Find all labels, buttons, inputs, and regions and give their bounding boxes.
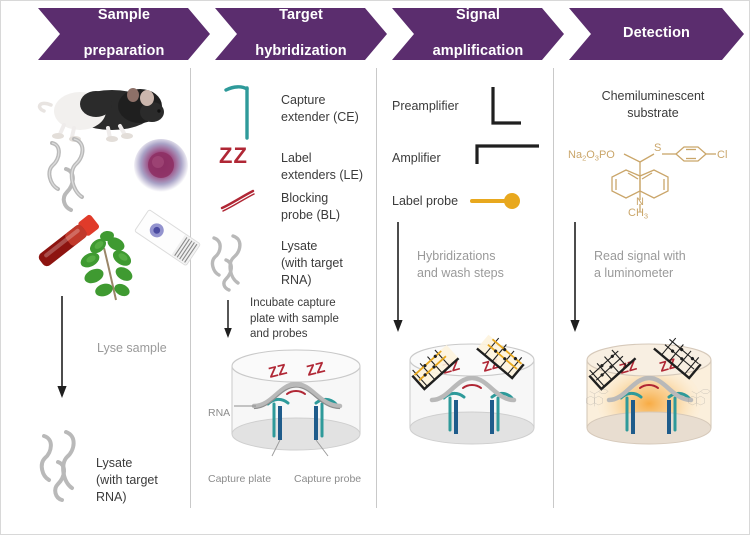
hybridization-label: Hybridizations and wash steps (417, 248, 547, 282)
amplification-well-3: ZZ ZZ (400, 340, 552, 462)
column-divider-1 (190, 68, 191, 508)
blocking-probe-label: Blocking probe (BL) (281, 190, 387, 224)
capture-extender-label: Capture extender (CE) (281, 92, 387, 126)
blocking-probe-icon (219, 188, 261, 212)
chemiluminescent-substrate-title: Chemiluminescent substrate (562, 88, 744, 122)
amplifier-label: Amplifier (392, 150, 441, 167)
header-step-line2: preparation (78, 43, 171, 61)
header-step-detection[interactable]: Detection (569, 8, 744, 60)
svg-text:CH3: CH3 (628, 207, 648, 221)
rna-strands-photo (44, 135, 114, 215)
header-step-signal-amplification[interactable]: Signal amplification (392, 8, 564, 60)
column-divider-3 (553, 68, 554, 508)
legend-line2: (with target (281, 256, 343, 270)
header-step-line1: Sample (78, 7, 171, 25)
label-extenders-label: Label extenders (LE) (281, 150, 387, 184)
header-step-line2: hybridization (249, 43, 353, 61)
legend-line2: extender (CE) (281, 110, 359, 124)
header-step-line1: Detection (617, 25, 696, 43)
label-probe-icon (470, 190, 526, 212)
label-extenders-icon: ZZ (219, 143, 248, 169)
substrate-title-line2: substrate (627, 106, 678, 120)
detection-well-4: ZZ ZZ (577, 340, 729, 462)
capture-extender-icon (224, 84, 258, 142)
rna-well-label: RNA (208, 407, 230, 421)
tissue-slide-photo (124, 216, 196, 278)
incubate-arrow (221, 300, 235, 340)
amplifier-icon (473, 138, 545, 170)
read-signal-label: Read signal with a luminometer (594, 248, 734, 282)
chlorine-atom-label: Cl (717, 149, 727, 161)
chemiluminescent-substrate-structure: Na2O3PO S Cl N CH3 (562, 130, 746, 216)
incubate-line2: plate with sample (250, 313, 339, 325)
incubate-line3: and probes (250, 328, 308, 340)
read-signal-line1: Read signal with (594, 249, 686, 263)
legend-line1: Blocking (281, 191, 328, 205)
legend-line2: probe (BL) (281, 208, 340, 222)
header-step-target-hybridization[interactable]: Target hybridization (215, 8, 387, 60)
lyse-sample-arrow (55, 296, 69, 400)
capture-probe-label: Capture probe (294, 473, 361, 487)
workflow-header: Sample preparation Target hybridization … (0, 8, 750, 60)
legend-line1: Label (281, 151, 312, 165)
read-signal-line2: a luminometer (594, 266, 673, 280)
header-step-line1: Target (249, 7, 353, 25)
lysate-result-line2: (with target RNA) (96, 473, 158, 504)
legend-line1: Capture (281, 93, 325, 107)
sulfur-atom-label: S (654, 142, 661, 154)
lysate-result-label: Lysate (with target RNA) (96, 455, 188, 506)
preamplifier-label: Preamplifier (392, 98, 459, 115)
lyse-sample-label: Lyse sample (97, 340, 167, 357)
capture-plate-label: Capture plate (208, 473, 271, 487)
svg-text:Na2O3PO: Na2O3PO (568, 149, 615, 163)
legend-line1: Lysate (281, 239, 317, 253)
lysate-strands-icon (36, 430, 100, 504)
capture-plate-well-2: ZZ ZZ (224, 348, 378, 468)
lysate-legend-label: Lysate (with target RNA) (281, 238, 381, 289)
incubate-line1: Incubate capture (250, 297, 336, 309)
incubate-label: Incubate capture plate with sample and p… (250, 296, 370, 343)
label-probe-label: Label probe (392, 193, 458, 210)
header-step-line2: amplification (427, 43, 530, 61)
lysate-legend-icon (208, 234, 266, 292)
hybridization-arrow (391, 222, 405, 334)
header-step-line1: Signal (427, 7, 530, 25)
cell-sample-photo (133, 138, 189, 194)
preamplifier-icon (487, 85, 533, 133)
substrate-title-line1: Chemiluminescent (602, 89, 705, 103)
legend-line2: extenders (LE) (281, 168, 363, 182)
lysate-result-line1: Lysate (96, 456, 132, 470)
hybridization-line2: and wash steps (417, 266, 504, 280)
read-signal-arrow (568, 222, 582, 334)
legend-line3: RNA) (281, 273, 312, 287)
header-step-sample-preparation[interactable]: Sample preparation (38, 8, 210, 60)
hybridization-line1: Hybridizations (417, 249, 496, 263)
